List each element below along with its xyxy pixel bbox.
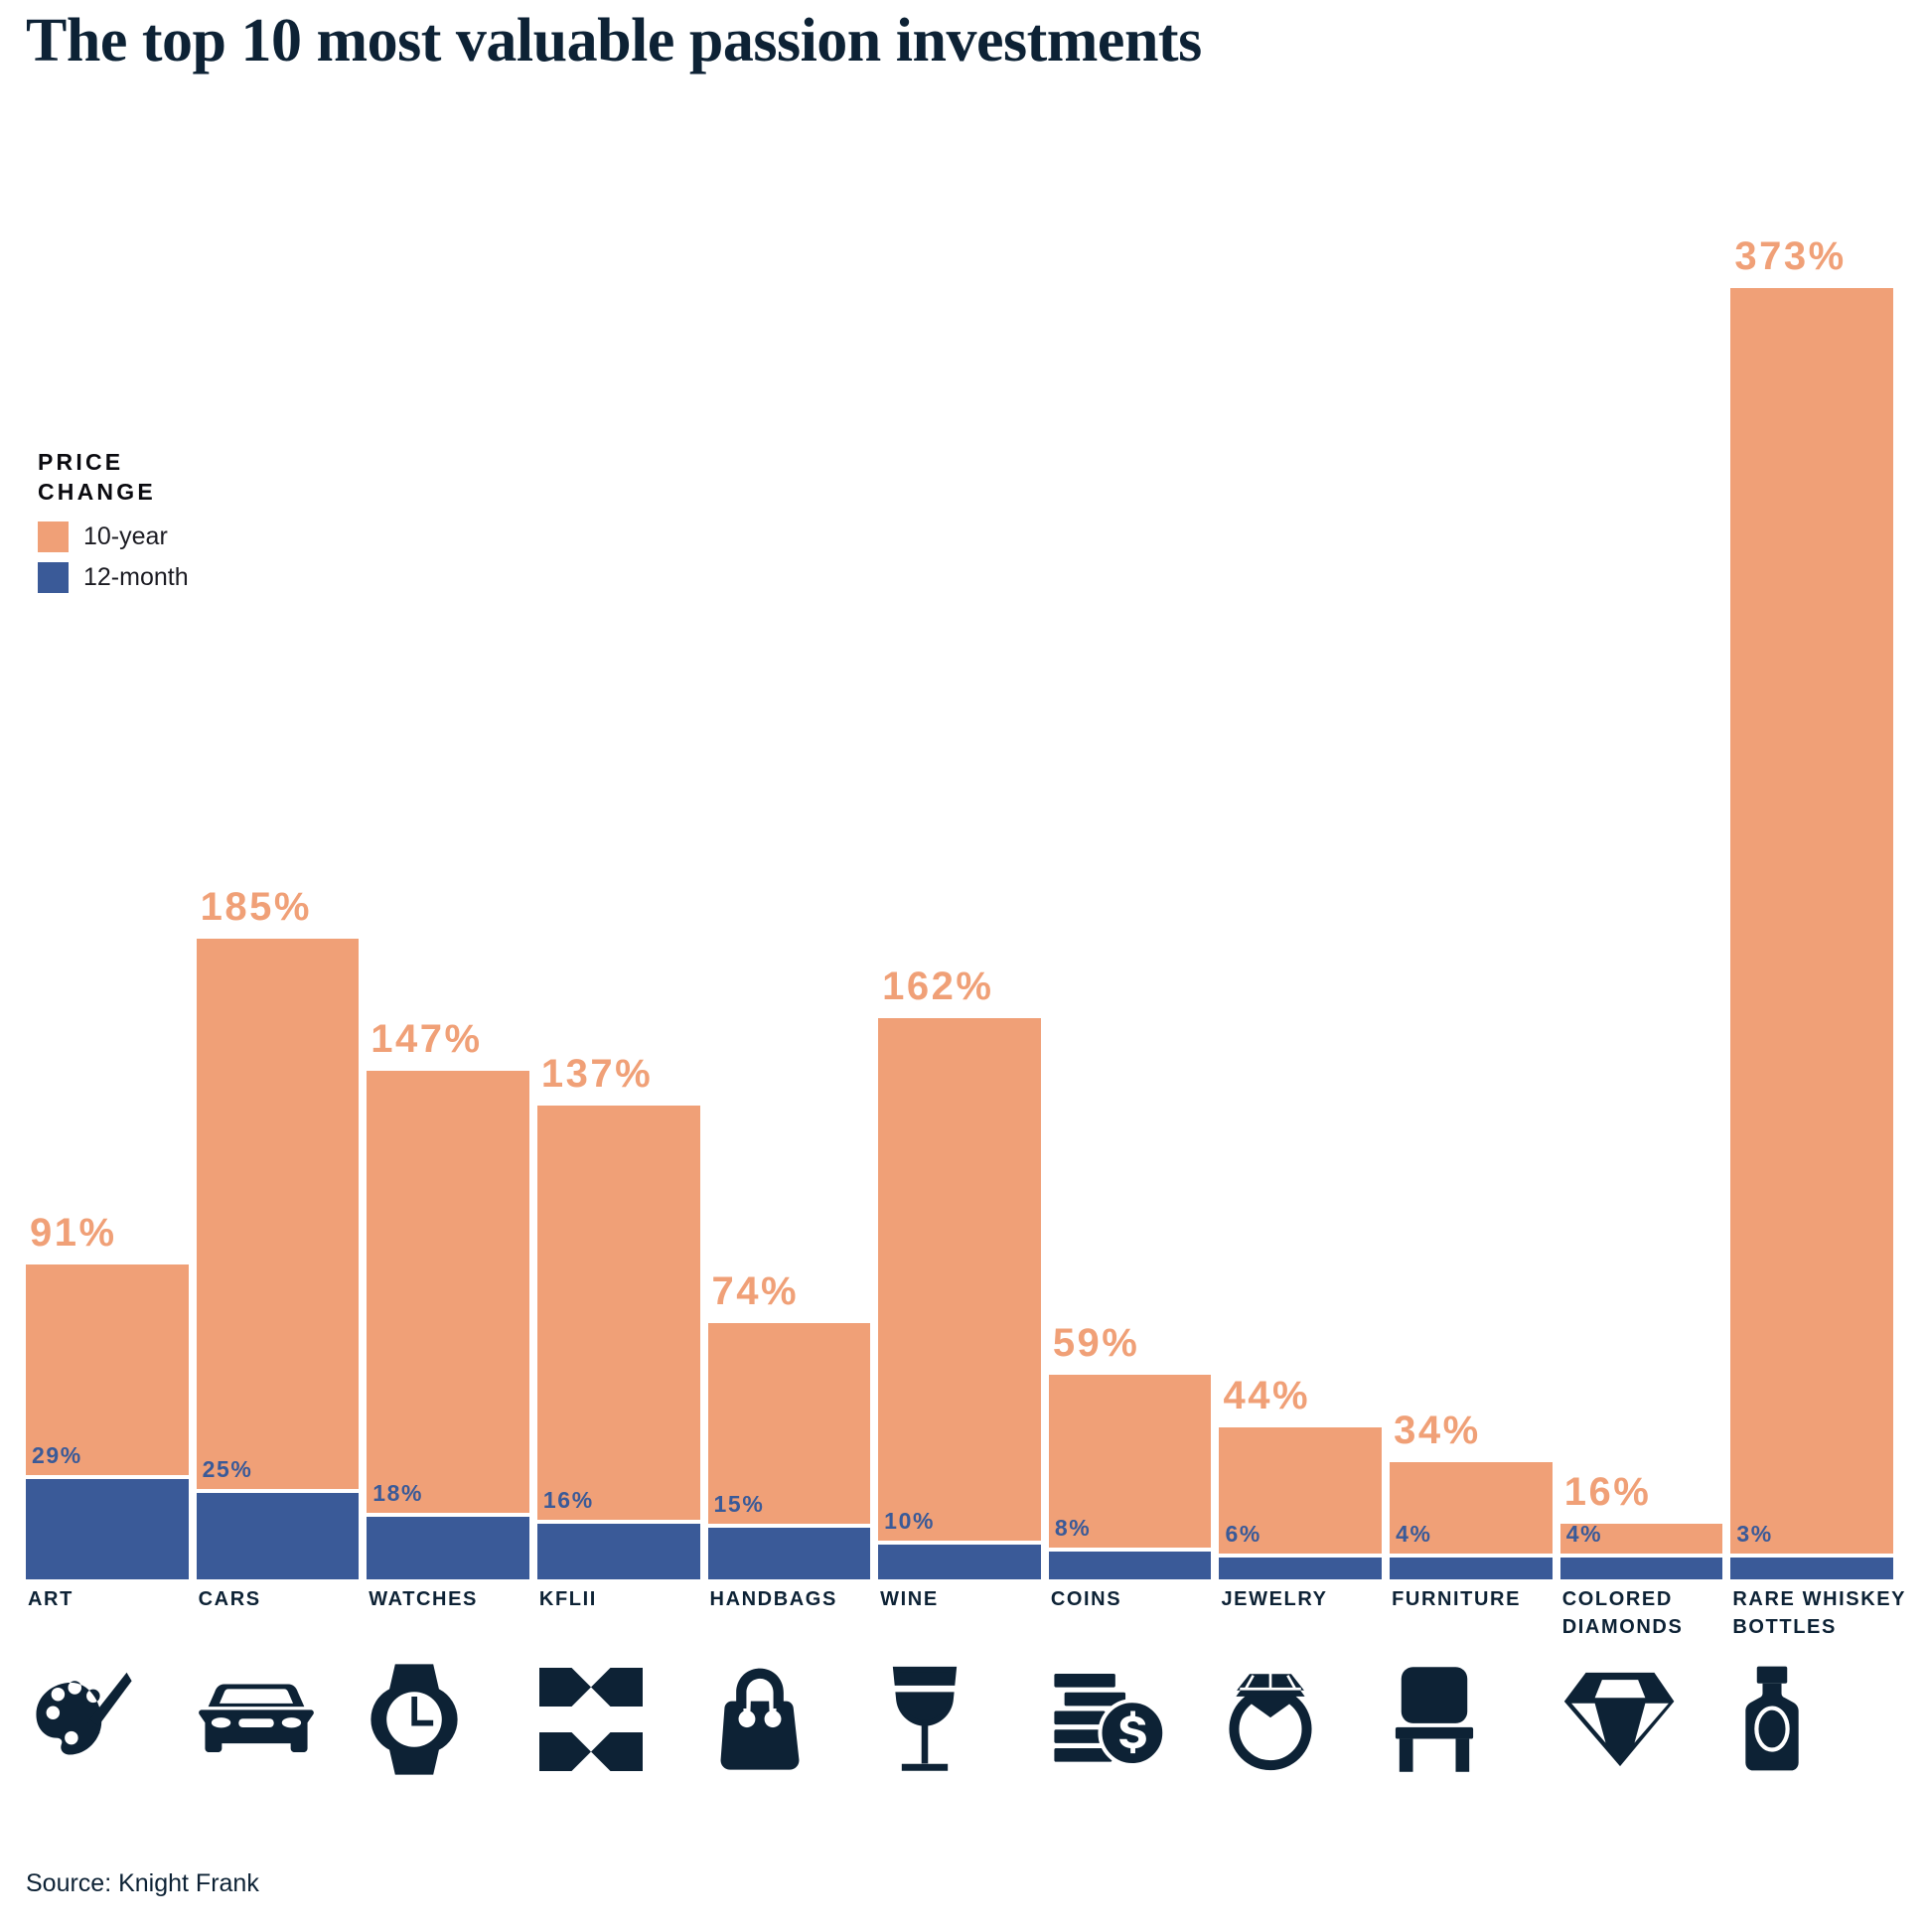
bar-value-label-10-year: 373% (1734, 236, 1846, 276)
bar-segment-12-month[interactable] (708, 1528, 871, 1579)
coins-dollar-icon (1051, 1661, 1170, 1778)
chair-icon (1392, 1661, 1511, 1778)
bar-segment-12-month[interactable] (197, 1493, 360, 1579)
category-label-line: BOTTLES (1732, 1613, 1927, 1641)
bar-value-label-12-month: 29% (32, 1444, 82, 1467)
bar-value-label-12-month: 4% (1566, 1523, 1602, 1546)
bar-group[interactable]: 74%15% (708, 149, 871, 1579)
diamond-ring-icon (1221, 1661, 1340, 1778)
bar-group[interactable]: 373%3% (1730, 149, 1893, 1579)
bar-value-label-10-year: 34% (1394, 1411, 1481, 1450)
bar-segment-12-month[interactable] (878, 1545, 1041, 1579)
bar-value-label-10-year: 147% (371, 1019, 482, 1059)
bar-segment-12-month[interactable] (1390, 1558, 1553, 1579)
bar-segment-10-year[interactable]: 34%4% (1390, 1462, 1553, 1554)
category-icons-row (26, 1661, 1901, 1790)
bar-segment-12-month[interactable] (1560, 1558, 1723, 1579)
bar-stack: 147%18% (367, 1071, 529, 1579)
bar-stack: 137%16% (537, 1106, 700, 1579)
bar-value-label-12-month: 4% (1396, 1523, 1431, 1546)
category-label-line: RARE WHISKEY (1732, 1585, 1927, 1613)
bar-value-label-10-year: 185% (201, 887, 312, 927)
watch-icon (369, 1661, 488, 1778)
bar-value-label-10-year: 74% (712, 1271, 800, 1311)
bar-segment-10-year[interactable]: 44%6% (1219, 1427, 1382, 1554)
bar-segment-12-month[interactable] (1219, 1558, 1382, 1579)
bar-segment-10-year[interactable]: 162%10% (878, 1018, 1041, 1541)
bar-segment-12-month[interactable] (537, 1524, 700, 1579)
bar-value-label-10-year: 59% (1053, 1323, 1140, 1363)
bar-stack: 34%4% (1390, 1462, 1553, 1579)
bar-stack: 74%15% (708, 1323, 871, 1579)
bar-value-label-12-month: 6% (1225, 1523, 1260, 1546)
category-label: RARE WHISKEYBOTTLES (1732, 1585, 1927, 1642)
bar-stack: 44%6% (1219, 1427, 1382, 1579)
gem-icon (1562, 1661, 1682, 1778)
whiskey-bottle-icon (1732, 1661, 1852, 1778)
bar-value-label-10-year: 162% (882, 966, 993, 1006)
bar-segment-12-month[interactable] (1730, 1558, 1893, 1579)
bar-segment-10-year[interactable]: 91%29% (26, 1264, 189, 1475)
bar-value-label-10-year: 16% (1564, 1472, 1652, 1512)
bar-segment-10-year[interactable]: 16%4% (1560, 1524, 1723, 1554)
bar-chart-plot-area: 91%29%185%25%147%18%137%16%74%15%162%10%… (26, 149, 1901, 1579)
bar-stack: 91%29% (26, 1264, 189, 1579)
bar-segment-10-year[interactable]: 147%18% (367, 1071, 529, 1514)
bar-stack: 373%3% (1730, 288, 1893, 1579)
bar-segment-10-year[interactable]: 373%3% (1730, 288, 1893, 1554)
kflii-logo-icon (539, 1661, 659, 1778)
bar-segment-10-year[interactable]: 137%16% (537, 1106, 700, 1521)
bar-segment-12-month[interactable] (367, 1517, 529, 1579)
bar-group[interactable]: 34%4% (1390, 149, 1553, 1579)
bar-group[interactable]: 44%6% (1219, 149, 1382, 1579)
bar-stack: 162%10% (878, 1018, 1041, 1579)
bar-value-label-12-month: 10% (884, 1510, 935, 1533)
handbag-icon (710, 1661, 829, 1778)
bar-group[interactable]: 162%10% (878, 149, 1041, 1579)
bar-value-label-12-month: 15% (714, 1493, 765, 1516)
wine-glass-icon (880, 1661, 999, 1778)
bar-group[interactable]: 59%8% (1049, 149, 1212, 1579)
palette-brush-icon (28, 1661, 147, 1778)
bar-value-label-12-month: 8% (1055, 1517, 1091, 1540)
bar-value-label-12-month: 18% (372, 1482, 423, 1505)
bar-value-label-10-year: 44% (1223, 1376, 1310, 1415)
bar-group[interactable]: 147%18% (367, 149, 529, 1579)
category-labels-row: ARTCARSWATCHESKFLIIHANDBAGSWINECOINSJEWE… (26, 1585, 1901, 1665)
bar-segment-10-year[interactable]: 185%25% (197, 939, 360, 1489)
chart-page: The top 10 most valuable passion investm… (0, 0, 1927, 1932)
bar-stack: 185%25% (197, 939, 360, 1579)
source-note: Source: Knight Frank (26, 1871, 259, 1896)
page-title: The top 10 most valuable passion investm… (26, 6, 1202, 76)
bar-stack: 59%8% (1049, 1375, 1212, 1579)
bar-group[interactable]: 137%16% (537, 149, 700, 1579)
bar-value-label-12-month: 3% (1736, 1523, 1772, 1546)
bar-group[interactable]: 16%4% (1560, 149, 1723, 1579)
bar-value-label-10-year: 91% (30, 1213, 117, 1253)
bar-segment-10-year[interactable]: 59%8% (1049, 1375, 1212, 1548)
car-icon (199, 1661, 318, 1778)
bar-group[interactable]: 185%25% (197, 149, 360, 1579)
bar-value-label-12-month: 16% (543, 1489, 594, 1512)
bar-segment-12-month[interactable] (1049, 1552, 1212, 1579)
bar-stack: 16%4% (1560, 1524, 1723, 1579)
bar-value-label-12-month: 25% (203, 1458, 253, 1481)
bar-group[interactable]: 91%29% (26, 149, 189, 1579)
bar-value-label-10-year: 137% (541, 1054, 653, 1094)
bar-segment-12-month[interactable] (26, 1479, 189, 1579)
bar-segment-10-year[interactable]: 74%15% (708, 1323, 871, 1524)
